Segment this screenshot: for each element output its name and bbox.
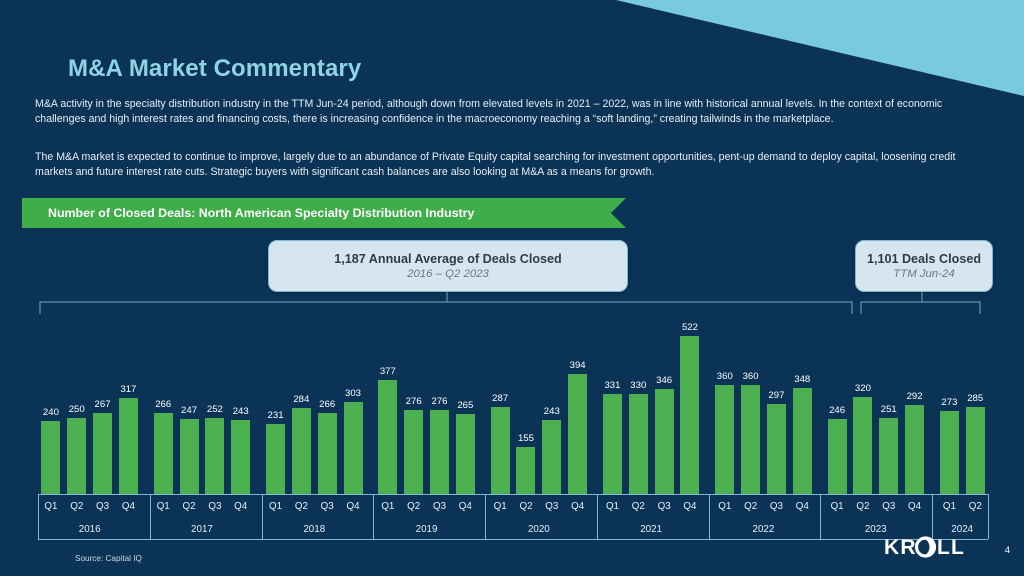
year-separator [373,494,374,539]
bar: 243 [542,420,561,494]
bar-value-label: 285 [967,393,983,404]
bar: 246 [828,419,847,494]
bar: 297 [767,404,786,494]
bar: 377 [378,380,397,494]
bar-value-label: 243 [233,406,249,417]
bar-cell: 273 [937,300,963,494]
intro-paragraph-2: The M&A market is expected to continue t… [35,150,995,179]
bar-cell: 285 [962,300,988,494]
bar-cell: 360 [712,300,738,494]
bar-cell: 377 [375,300,401,494]
bar: 276 [430,410,449,494]
bar: 346 [655,389,674,494]
quarter-label: Q4 [677,494,703,518]
bar: 266 [154,413,173,494]
quarter-label: Q4 [902,494,928,518]
quarter-label: Q1 [38,494,64,518]
bar: 330 [629,394,648,494]
bar: 276 [404,410,423,494]
chart-axis: Q1Q2Q3Q4Q1Q2Q3Q4Q1Q2Q3Q4Q1Q2Q3Q4Q1Q2Q3Q4… [38,494,988,540]
bar-cell: 246 [824,300,850,494]
axis-edge [988,494,989,539]
quarter-label: Q4 [789,494,815,518]
quarter-label: Q3 [876,494,902,518]
bar-value-label: 276 [406,396,422,407]
quarter-label: Q3 [314,494,340,518]
bar-value-label: 303 [345,388,361,399]
section-banner-label: Number of Closed Deals: North American S… [48,198,474,228]
bar-value-label: 284 [293,394,309,405]
bar-value-label: 267 [95,399,111,410]
bar-value-label: 265 [457,400,473,411]
ttm-deals-callout-subline: TTM Jun-24 [893,267,954,282]
bar-value-label: 231 [268,410,284,421]
bar-cell: 303 [340,300,366,494]
bar: 394 [568,374,587,494]
quarter-label: Q4 [452,494,478,518]
bar: 287 [491,407,510,494]
page-title: M&A Market Commentary [68,55,361,83]
bar-value-label: 292 [907,391,923,402]
quarter-label: Q1 [150,494,176,518]
bar-cell: 522 [677,300,703,494]
bar: 266 [318,413,337,494]
quarter-label: Q2 [288,494,314,518]
bar: 331 [603,394,622,494]
bar-cell: 287 [487,300,513,494]
annual-average-callout-headline: 1,187 Annual Average of Deals Closed [334,251,561,267]
bar-value-label: 377 [380,366,396,377]
bar-value-label: 240 [43,407,59,418]
annual-average-callout-subline: 2016 – Q2 2023 [407,267,489,282]
bar-value-label: 330 [630,380,646,391]
bar-cell: 155 [513,300,539,494]
quarter-label: Q3 [202,494,228,518]
bar-value-label: 266 [155,399,171,410]
bar: 292 [905,405,924,494]
quarter-label: Q1 [712,494,738,518]
bar: 267 [93,413,112,494]
bar: 360 [715,385,734,494]
bar-value-label: 320 [855,383,871,394]
bar-cell: 240 [38,300,64,494]
quarter-label: Q3 [539,494,565,518]
quarter-label: Q2 [850,494,876,518]
quarter-label: Q1 [263,494,289,518]
bar: 284 [292,408,311,494]
deals-bar-chart: 2402502673172662472522432312842663033772… [38,300,988,494]
quarter-label: Q2 [625,494,651,518]
bar-cell: 247 [176,300,202,494]
bar-value-label: 331 [604,380,620,391]
year-label-row: 201620172018201920202021202220232024 [38,518,988,540]
bar-value-label: 243 [544,406,560,417]
ttm-deals-callout-headline: 1,101 Deals Closed [867,251,981,267]
bar-cell: 331 [600,300,626,494]
bar-value-label: 394 [570,360,586,371]
bar-cell: 243 [539,300,565,494]
bar: 273 [940,411,959,494]
bar: 155 [516,447,535,494]
bar-value-label: 247 [181,405,197,416]
bar-value-label: 346 [656,375,672,386]
bar-cell: 360 [738,300,764,494]
svg-text:KR: KR [884,536,917,559]
bar: 240 [41,421,60,494]
quarter-label: Q1 [375,494,401,518]
bar-value-label: 246 [829,405,845,416]
bar-value-label: 252 [207,404,223,415]
quarter-label: Q1 [937,494,963,518]
quarter-label: Q1 [824,494,850,518]
bar-cell: 297 [764,300,790,494]
quarter-label: Q3 [651,494,677,518]
teal-corner-decoration [584,0,1024,96]
kroll-logo: KR LL [884,536,988,558]
year-separator [820,494,821,539]
bar-cell: 276 [401,300,427,494]
bar-cell: 348 [789,300,815,494]
bar-value-label: 297 [768,390,784,401]
quarter-label: Q4 [228,494,254,518]
year-label: 2018 [263,518,366,540]
bar-cell: 346 [651,300,677,494]
bar-cell: 243 [228,300,254,494]
bar-cell: 250 [64,300,90,494]
bar: 303 [344,402,363,494]
quarter-label: Q2 [962,494,988,518]
year-label: 2020 [487,518,590,540]
bar-cell: 231 [263,300,289,494]
year-separator [597,494,598,539]
bar: 250 [67,418,86,494]
year-separator [485,494,486,539]
quarter-label-row: Q1Q2Q3Q4Q1Q2Q3Q4Q1Q2Q3Q4Q1Q2Q3Q4Q1Q2Q3Q4… [38,494,988,518]
bar-cell: 292 [902,300,928,494]
quarter-label: Q1 [487,494,513,518]
bar-value-label: 276 [431,396,447,407]
bar-value-label: 287 [492,393,508,404]
bar: 265 [456,414,475,494]
page-number: 4 [1005,545,1010,556]
quarter-label: Q4 [565,494,591,518]
bar: 360 [741,385,760,494]
bar-cell: 276 [427,300,453,494]
quarter-label: Q4 [115,494,141,518]
annual-average-callout: 1,187 Annual Average of Deals Closed 201… [268,240,628,292]
bar-cell: 266 [314,300,340,494]
bar-value-label: 522 [682,322,698,333]
bar-cell: 251 [876,300,902,494]
year-label: 2019 [375,518,478,540]
source-note: Source: Capital IQ [75,554,142,563]
bar-cell: 266 [150,300,176,494]
bar-cell: 284 [288,300,314,494]
bar: 231 [266,424,285,494]
quarter-label: Q2 [176,494,202,518]
bar-cell: 267 [90,300,116,494]
quarter-label: Q2 [64,494,90,518]
year-separator [150,494,151,539]
quarter-label: Q2 [513,494,539,518]
bar-series: 2402502673172662472522432312842663033772… [38,300,988,494]
bar-value-label: 266 [319,399,335,410]
bar-value-label: 155 [518,433,534,444]
bar-value-label: 360 [743,371,759,382]
year-label: 2021 [599,518,702,540]
quarter-label: Q3 [764,494,790,518]
slide-canvas: M&A Market Commentary M&A activity in th… [0,0,1024,576]
quarter-label: Q2 [401,494,427,518]
bar: 252 [205,418,224,495]
bar-value-label: 348 [794,374,810,385]
year-label: 2016 [38,518,141,540]
bar-value-label: 250 [69,404,85,415]
bar-value-label: 360 [717,371,733,382]
bar: 317 [119,398,138,494]
bar-cell: 394 [565,300,591,494]
bar: 348 [793,388,812,494]
bar-cell: 320 [850,300,876,494]
svg-text:LL: LL [937,536,965,559]
intro-paragraph-1: M&A activity in the specialty distributi… [35,97,995,126]
bar: 243 [231,420,250,494]
axis-edge [38,494,39,539]
bar-cell: 265 [452,300,478,494]
ttm-deals-callout: 1,101 Deals Closed TTM Jun-24 [855,240,993,292]
quarter-label: Q4 [340,494,366,518]
bar-value-label: 273 [941,397,957,408]
bar-cell: 252 [202,300,228,494]
year-label: 2017 [150,518,253,540]
quarter-label: Q1 [600,494,626,518]
bar-value-label: 251 [881,404,897,415]
section-banner: Number of Closed Deals: North American S… [22,198,626,228]
bar-cell: 330 [625,300,651,494]
bar-value-label: 317 [120,384,136,395]
year-separator [709,494,710,539]
quarter-label: Q3 [427,494,453,518]
bar: 251 [879,418,898,494]
bar: 247 [180,419,199,494]
year-label: 2022 [712,518,815,540]
year-separator [262,494,263,539]
bar-cell: 317 [115,300,141,494]
bar: 522 [680,336,699,494]
quarter-label: Q3 [90,494,116,518]
year-separator [932,494,933,539]
bar: 320 [853,397,872,494]
quarter-label: Q2 [738,494,764,518]
bar: 285 [966,407,985,494]
